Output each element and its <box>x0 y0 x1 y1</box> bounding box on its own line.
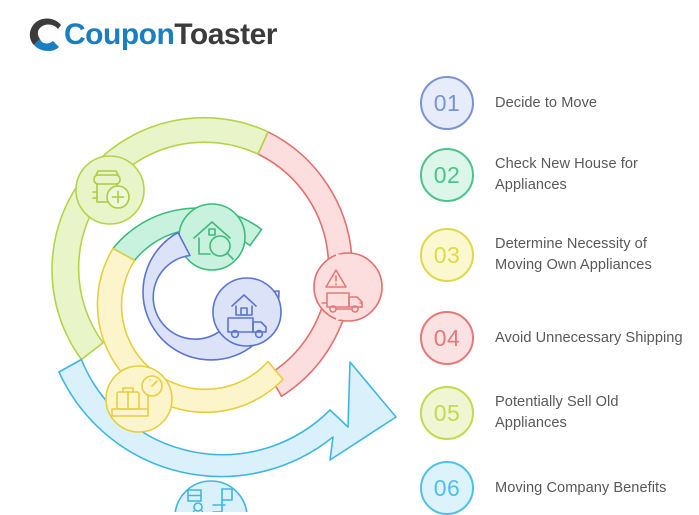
step-number-03: 03 <box>434 242 461 269</box>
step-badge-04: 04 <box>420 311 474 365</box>
legend-item-04[interactable]: 04 Avoid Unnecessary Shipping <box>420 311 690 365</box>
cycle-svg <box>0 62 420 512</box>
site-logo[interactable]: CouponToaster <box>28 14 277 56</box>
step-label-02: Check New House for Appliances <box>495 154 690 195</box>
step-number-04: 04 <box>434 325 461 352</box>
step-badge-03: 03 <box>420 228 474 282</box>
outer-ring-red-segment <box>258 132 382 397</box>
steps-legend: 01 Decide to Move 02 Check New House for… <box>420 76 690 506</box>
step-number-02: 02 <box>434 162 461 189</box>
step-number-01: 01 <box>434 90 461 117</box>
logo-text-toaster: Toaster <box>174 18 277 51</box>
step-label-01: Decide to Move <box>495 93 597 114</box>
legend-item-05[interactable]: 05 Potentially Sell Old Appliances <box>420 386 690 440</box>
logo-wordmark: CouponToaster <box>64 20 277 50</box>
step-badge-02: 02 <box>420 148 474 202</box>
step-number-06: 06 <box>434 475 461 502</box>
legend-item-06[interactable]: 06 Moving Company Benefits <box>420 461 690 515</box>
legend-item-03[interactable]: 03 Determine Necessity of Moving Own App… <box>420 228 690 282</box>
step-label-05: Potentially Sell Old Appliances <box>495 392 690 433</box>
c-swoosh-icon <box>28 16 68 54</box>
step-label-03: Determine Necessity of Moving Own Applia… <box>495 234 690 275</box>
legend-item-01[interactable]: 01 Decide to Move <box>420 76 690 130</box>
legend-item-02[interactable]: 02 Check New House for Appliances <box>420 148 690 202</box>
step-badge-06: 06 <box>420 461 474 515</box>
process-cycle-diagram <box>0 62 420 512</box>
logo-text-coupon: Coupon <box>64 18 174 51</box>
step-number-05: 05 <box>434 400 461 427</box>
step-label-06: Moving Company Benefits <box>495 478 667 499</box>
step-label-04: Avoid Unnecessary Shipping <box>495 328 683 349</box>
step-badge-05: 05 <box>420 386 474 440</box>
step-badge-01: 01 <box>420 76 474 130</box>
